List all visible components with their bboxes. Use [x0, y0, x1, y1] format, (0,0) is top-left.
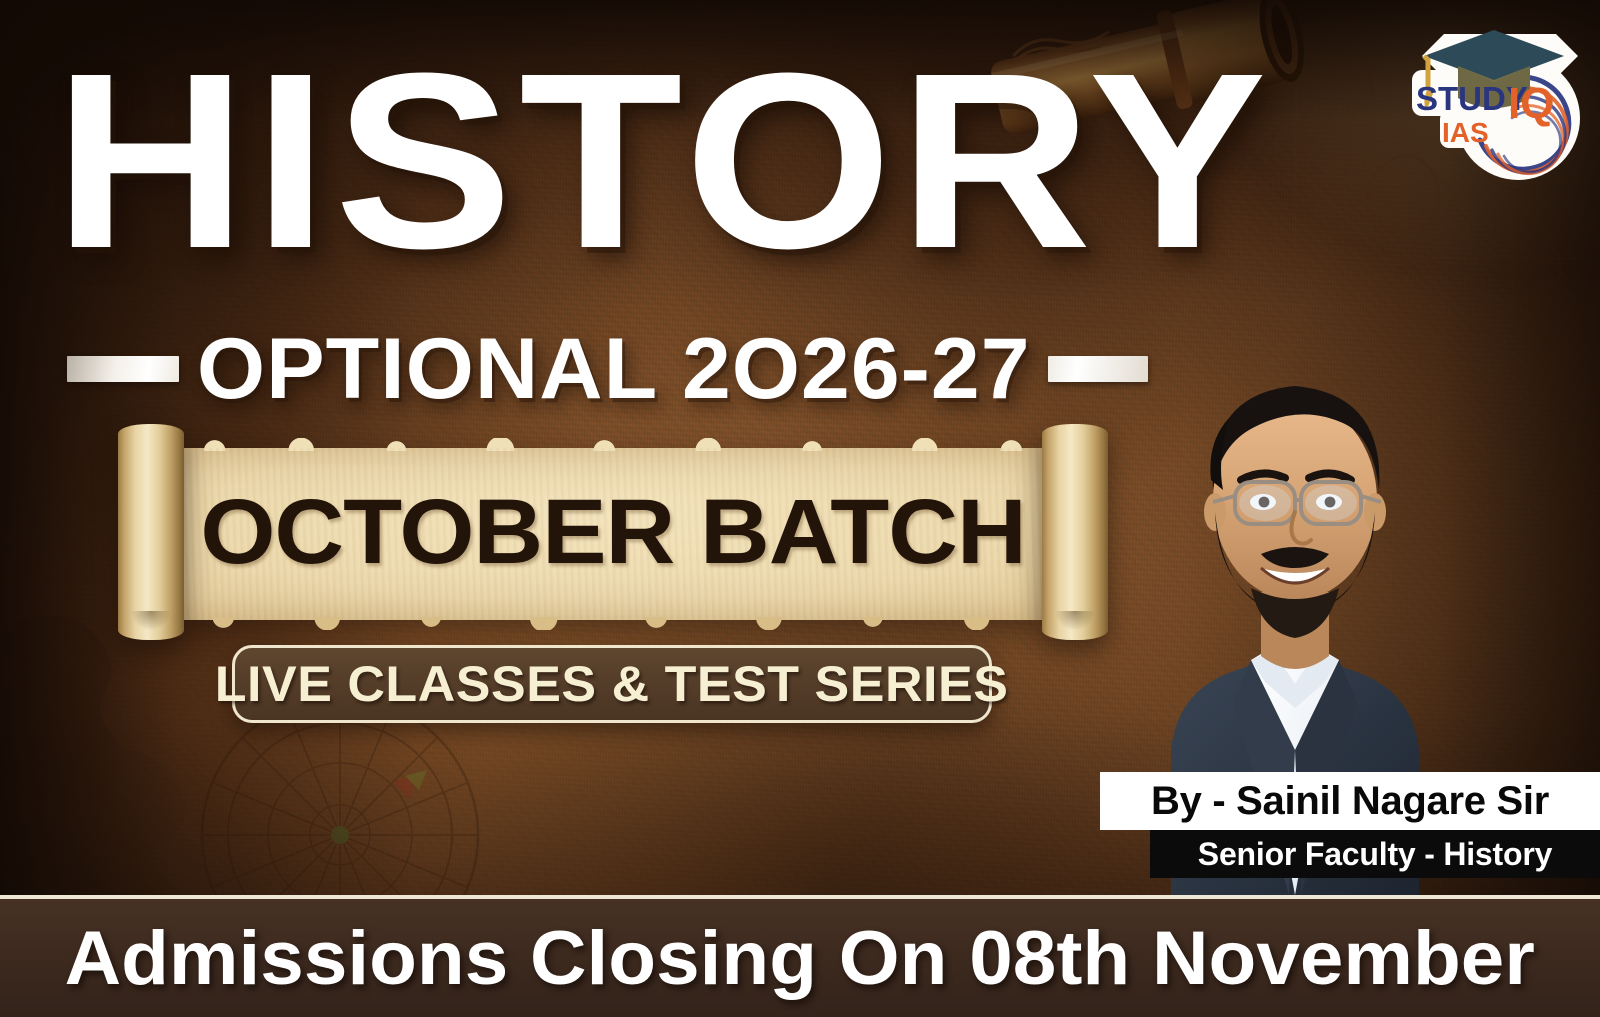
page-title: HISTORY	[54, 36, 1317, 286]
subtitle-text: OPTIONAL 2O26-27	[197, 324, 1031, 414]
studyiq-logo: STUDY IAS IQ	[1388, 14, 1594, 186]
faculty-name-band: By - Sainil Nagare Sir	[1100, 772, 1600, 830]
live-classes-badge: LIVE CLASSES & TEST SERIES	[232, 645, 992, 723]
scroll-batch-label: OCTOBER BATCH	[93, 424, 1133, 640]
admissions-closing-text: Admissions Closing On 08th November	[65, 915, 1535, 1002]
subtitle-row: OPTIONAL 2O26-27	[0, 324, 1215, 414]
decorative-dash-left	[67, 356, 179, 382]
faculty-role: Senior Faculty - History	[1198, 836, 1552, 873]
faculty-role-band: Senior Faculty - History	[1150, 830, 1600, 878]
parchment-scroll: OCTOBER BATCH	[118, 424, 1108, 640]
history-optional-promo-banner: Zona Torrens Septentrion INDIA	[0, 0, 1600, 1017]
live-classes-badge-label: LIVE CLASSES & TEST SERIES	[215, 655, 1009, 713]
faculty-name: By - Sainil Nagare Sir	[1151, 779, 1549, 824]
logo-brand-mark: IQ	[1508, 79, 1554, 128]
admissions-bottom-bar: Admissions Closing On 08th November	[0, 895, 1600, 1017]
logo-brand-sub: IAS	[1442, 117, 1489, 148]
